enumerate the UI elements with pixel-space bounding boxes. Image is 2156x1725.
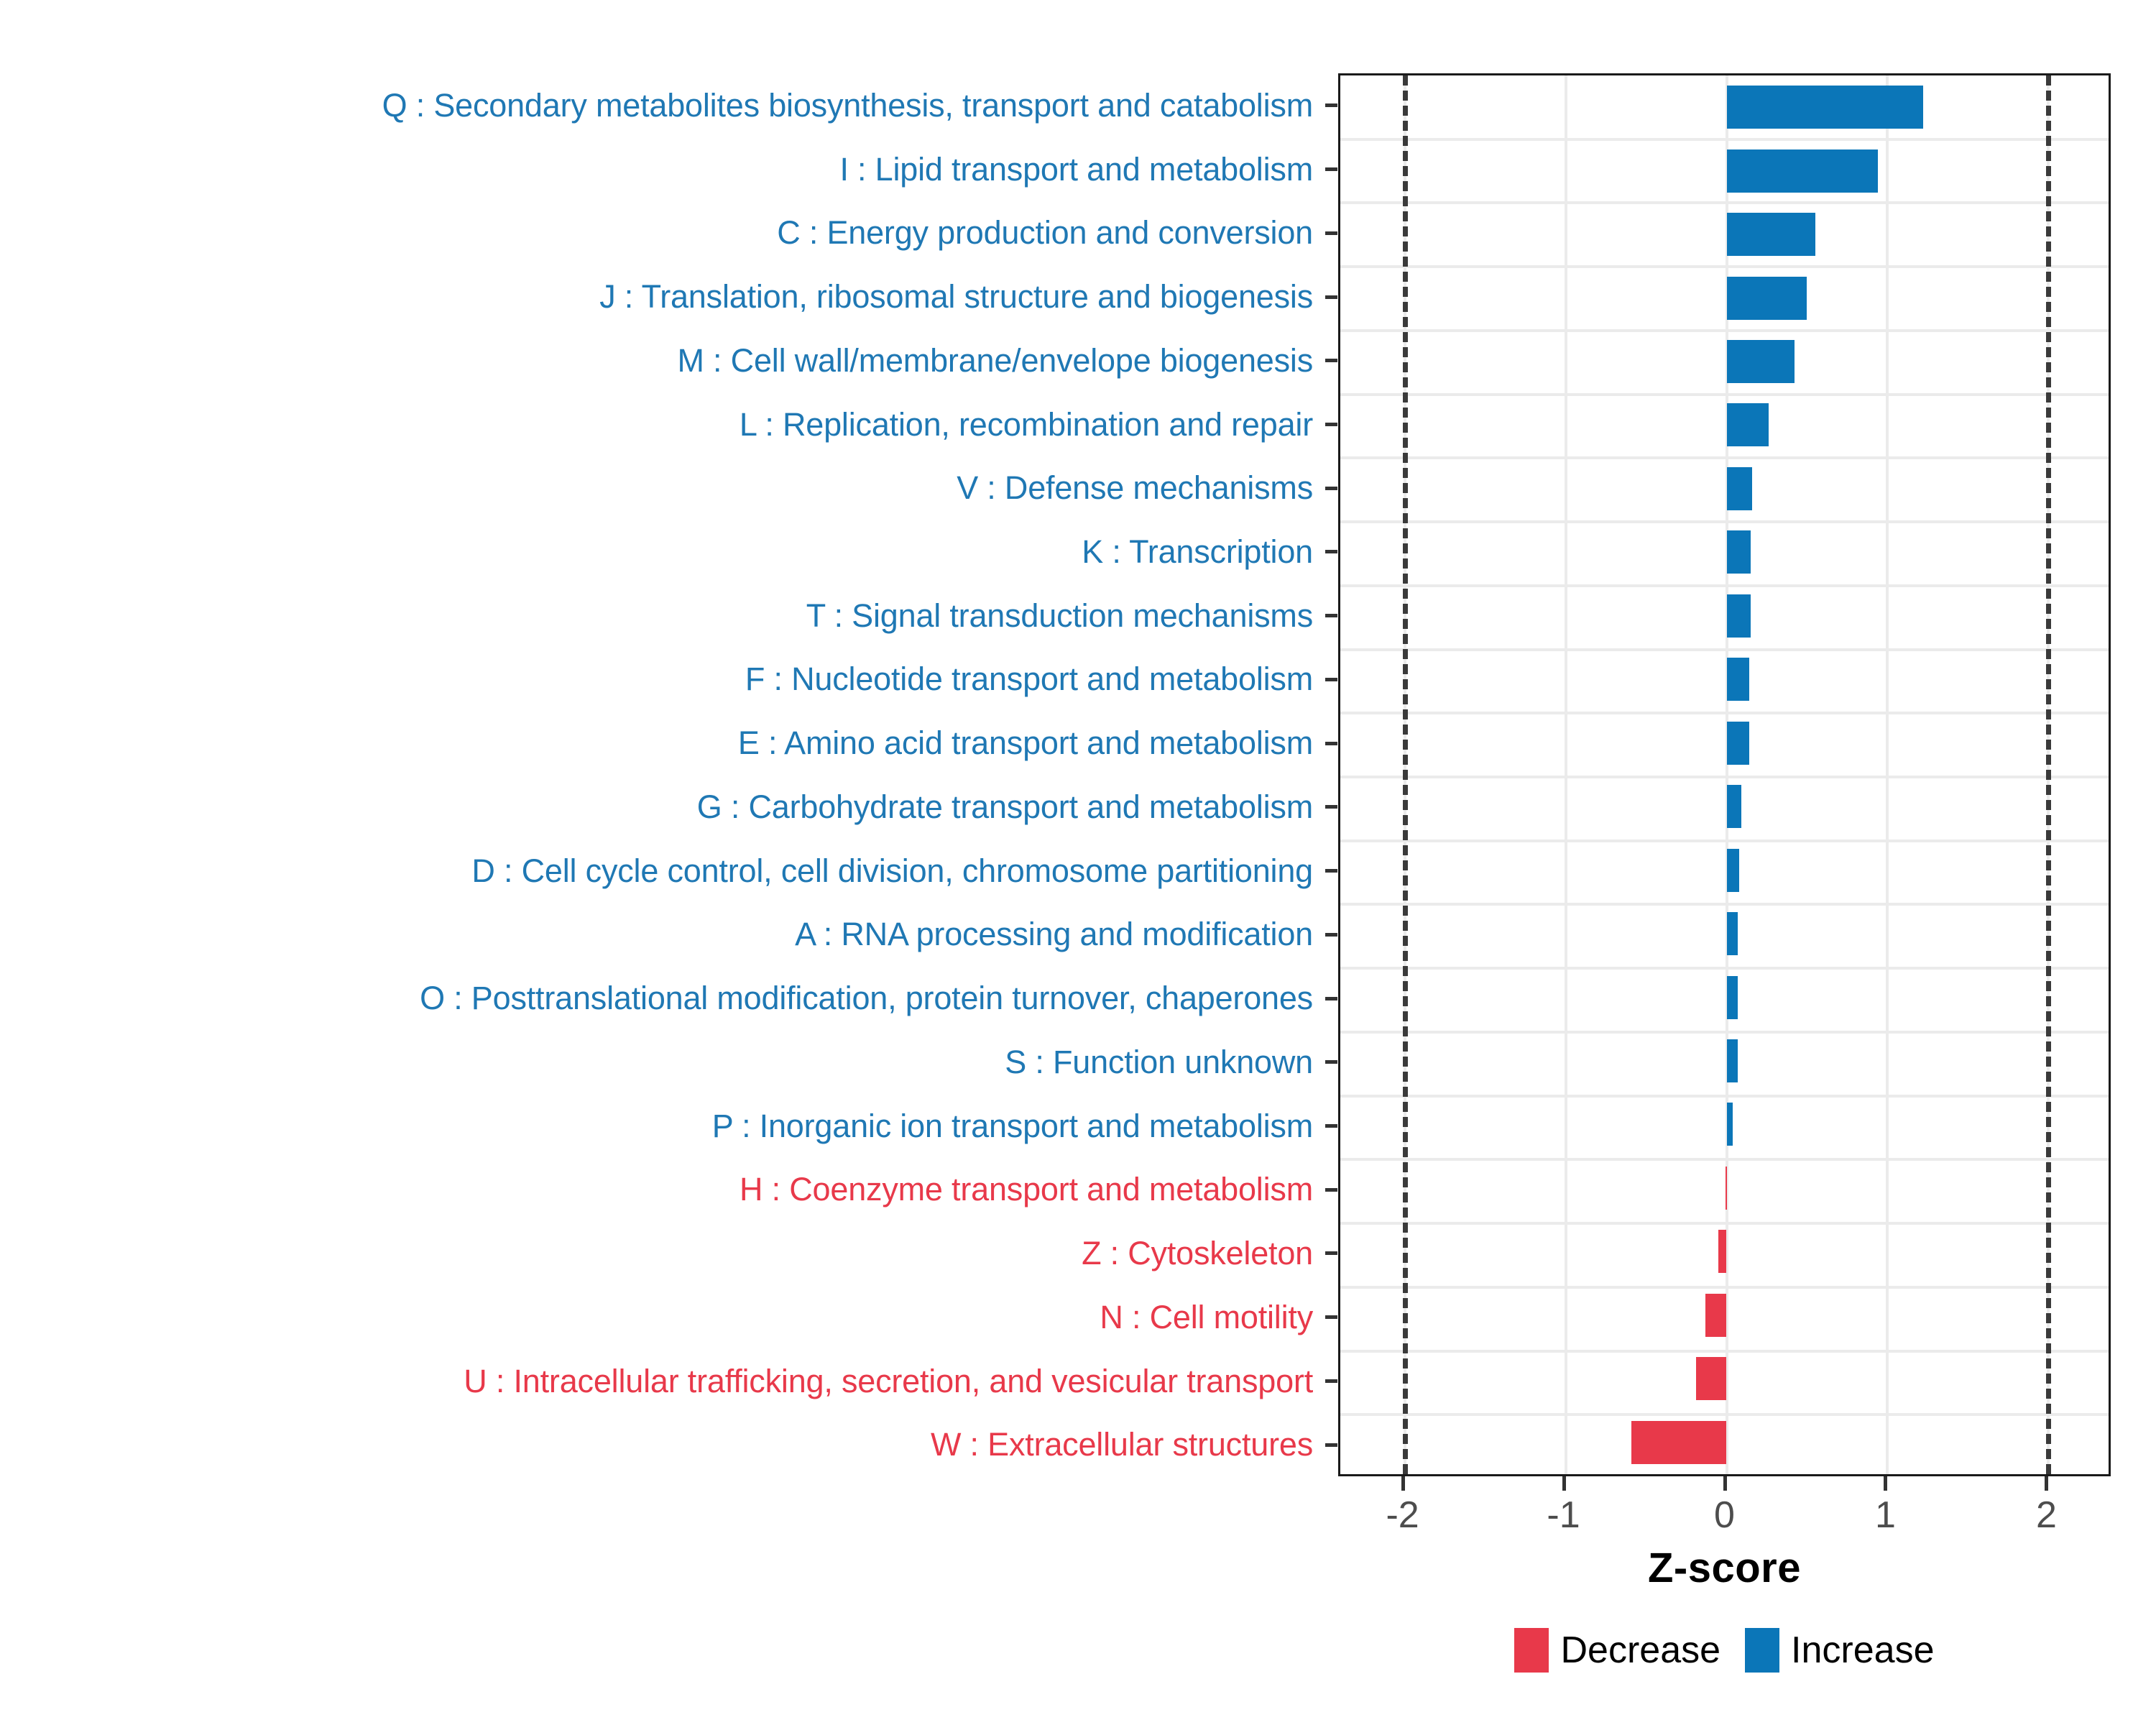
bar [1727,722,1749,765]
y-axis-tick [1325,678,1337,681]
y-axis-tick [1325,103,1337,107]
bar [1727,658,1749,701]
y-axis-tick [1325,1379,1337,1383]
bar-row [1340,838,2109,901]
bar-row [1340,1092,2109,1156]
bar-row [1340,203,2109,266]
bar [1705,1294,1726,1337]
category-label: G : Carbohydrate transport and metabolis… [0,775,1319,839]
category-label: E : Amino acid transport and metabolism [0,711,1319,775]
y-axis-tick [1325,805,1337,809]
bar [1727,912,1738,955]
y-axis-tick [1325,614,1337,617]
x-axis-tick-label: 0 [1714,1494,1735,1537]
bar-row [1340,1411,2109,1474]
y-axis-tick [1325,1188,1337,1192]
bar [1727,213,1815,256]
threshold-line [2046,75,2051,1474]
bar [1727,149,1879,193]
bar-row [1340,393,2109,456]
y-axis-tick [1325,487,1337,490]
category-label: M : Cell wall/membrane/envelope biogenes… [0,328,1319,392]
bar-row [1340,775,2109,838]
y-axis-tick [1325,359,1337,362]
category-label: Q : Secondary metabolites biosynthesis, … [0,73,1319,137]
y-axis-tick [1325,1315,1337,1319]
legend-item[interactable]: Decrease [1514,1628,1720,1673]
x-axis-tick-label: -1 [1547,1494,1580,1537]
category-label: D : Cell cycle control, cell division, c… [0,839,1319,903]
category-label: S : Function unknown [0,1030,1319,1094]
bar [1631,1421,1726,1464]
bar [1727,340,1795,383]
y-axis-tick [1325,167,1337,171]
bar-row [1340,457,2109,520]
category-label: H : Coenzyme transport and metabolism [0,1157,1319,1221]
y-axis-tick [1325,869,1337,873]
chart-legend: DecreaseIncrease [1338,1628,2111,1673]
y-axis-tick [1325,295,1337,299]
cog-zscore-bar-chart: Q : Secondary metabolites biosynthesis, … [0,0,2156,1725]
x-axis-title: Z-score [1338,1544,2111,1592]
bar [1727,277,1807,320]
bar [1727,1039,1738,1082]
bar [1726,1167,1727,1210]
x-axis-tick [2045,1476,2048,1491]
category-label-column: Q : Secondary metabolites biosynthesis, … [0,73,1319,1476]
bar-row [1340,1284,2109,1347]
legend-swatch-decrease [1514,1628,1549,1673]
y-axis-tick [1325,1060,1337,1064]
category-label: P : Inorganic ion transport and metaboli… [0,1094,1319,1158]
bar-row [1340,330,2109,393]
bar [1727,976,1738,1019]
category-label: I : Lipid transport and metabolism [0,137,1319,201]
y-axis-tick [1325,1443,1337,1447]
x-axis-tick-label: 2 [2036,1494,2057,1537]
legend-label: Decrease [1560,1629,1720,1672]
y-axis-tick [1325,742,1337,745]
category-label: L : Replication, recombination and repai… [0,392,1319,456]
bar [1718,1230,1726,1273]
y-axis-tick [1325,933,1337,937]
y-axis-tick [1325,550,1337,553]
bar-row [1340,1347,2109,1410]
bar-row [1340,1156,2109,1220]
category-label: W : Extracellular structures [0,1412,1319,1476]
x-axis-tick [1723,1476,1727,1491]
bar-row [1340,902,2109,965]
x-axis-tick [1562,1476,1566,1491]
category-label: K : Transcription [0,520,1319,584]
bar [1727,1103,1733,1146]
bar-row [1340,139,2109,202]
category-label: T : Signal transduction mechanisms [0,584,1319,648]
bar-series [1340,75,2109,1474]
x-axis-tick [1884,1476,1887,1491]
category-label: Z : Cytoskeleton [0,1221,1319,1285]
category-label: A : RNA processing and modification [0,903,1319,967]
x-axis-tick [1401,1476,1405,1491]
legend-label: Increase [1791,1629,1934,1672]
bar-row [1340,965,2109,1029]
bar-row [1340,1220,2109,1283]
category-label: J : Translation, ribosomal structure and… [0,264,1319,328]
bar-row [1340,1029,2109,1092]
bar [1727,594,1751,638]
y-axis-tick [1325,997,1337,1000]
bar [1727,785,1741,828]
plot-panel [1338,73,2111,1476]
y-axis-tick [1325,423,1337,426]
y-axis-tick [1325,1124,1337,1128]
category-label: F : Nucleotide transport and metabolism [0,648,1319,712]
bar [1727,849,1740,892]
bar [1727,403,1769,446]
category-label: V : Defense mechanisms [0,456,1319,520]
bar [1727,530,1751,574]
threshold-line [1403,75,1408,1474]
y-axis-tick [1325,1251,1337,1255]
category-label: N : Cell motility [0,1285,1319,1349]
bar-row [1340,266,2109,329]
legend-item[interactable]: Increase [1745,1628,1934,1673]
y-axis-tick [1325,231,1337,235]
bar [1727,467,1753,510]
x-axis-tick-label: -2 [1386,1494,1419,1537]
category-label: U : Intracellular trafficking, secretion… [0,1349,1319,1413]
bar [1696,1357,1727,1400]
x-axis-tick-label: 1 [1875,1494,1896,1537]
bar-row [1340,520,2109,584]
category-label: O : Posttranslational modification, prot… [0,966,1319,1030]
bar-row [1340,584,2109,648]
bar-row [1340,712,2109,775]
category-label: C : Energy production and conversion [0,201,1319,264]
bar-row [1340,648,2109,711]
bar [1727,86,1923,129]
legend-swatch-increase [1745,1628,1779,1673]
bar-row [1340,75,2109,139]
